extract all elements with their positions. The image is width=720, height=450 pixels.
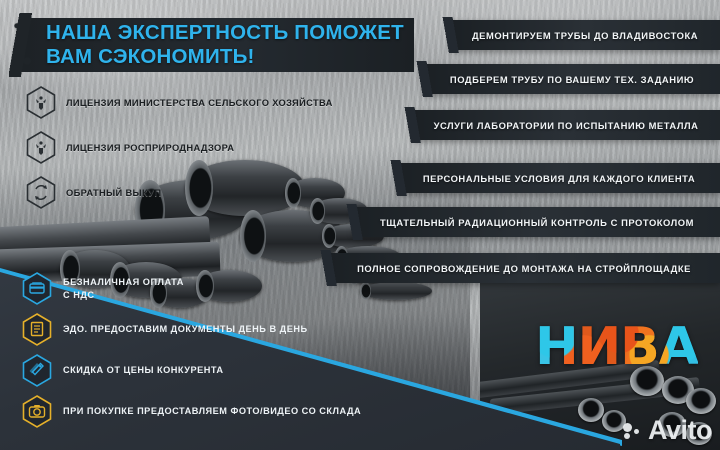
- eagle-emblem-icon: [26, 86, 56, 119]
- license-item: ОБРАТНЫЙ ВЫКУП: [26, 176, 333, 209]
- avito-dots-icon: [623, 420, 645, 442]
- feature-item: БЕЗНАЛИЧНАЯ ОПЛАТА С НДС: [22, 272, 422, 305]
- service-badge-label: ТЩАТЕЛЬНЫЙ РАДИАЦИОННЫЙ КОНТРОЛЬ С ПРОТО…: [380, 217, 694, 228]
- niva-logo: НИВА: [513, 318, 698, 376]
- feature-item: ЭДО. ПРЕДОСТАВИМ ДОКУМЕНТЫ ДЕНЬ В ДЕНЬ: [22, 313, 422, 346]
- service-badge: ТЩАТЕЛЬНЫЙ РАДИАЦИОННЫЙ КОНТРОЛЬ С ПРОТО…: [354, 207, 720, 237]
- feature-label: ПРИ ПОКУПКЕ ПРЕДОСТАВЛЯЕМ ФОТО/ВИДЕО СО …: [63, 405, 361, 417]
- card-payment-icon: [22, 272, 52, 305]
- headline-banner: НАША ЭКСПЕРТНОСТЬ ПОМОЖЕТ ВАМ СЭКОНОМИТЬ…: [22, 18, 414, 72]
- feature-list: БЕЗНАЛИЧНАЯ ОПЛАТА С НДС ЭДО. ПРЕДОСТАВИ…: [22, 272, 422, 428]
- pipe-end: [578, 398, 604, 422]
- service-badge: УСЛУГИ ЛАБОРАТОРИИ ПО ИСПЫТАНИЮ МЕТАЛЛА: [412, 110, 720, 140]
- service-badge: ДЕМОНТИРУЕМ ТРУБЫ ДО ВЛАДИВОСТОКА: [450, 20, 720, 50]
- license-item: ЛИЦЕНЗИЯ РОСПРИРОДНАДЗОРА: [26, 131, 333, 164]
- price-tag-icon: [22, 354, 52, 387]
- avito-watermark-text: Avito: [648, 417, 712, 444]
- niva-logo-text: НИВА: [535, 321, 698, 373]
- buyback-arrows-icon: [26, 176, 56, 209]
- pipe-end: [686, 388, 716, 414]
- feature-label: БЕЗНАЛИЧНАЯ ОПЛАТА С НДС: [63, 276, 184, 301]
- license-list: ЛИЦЕНЗИЯ МИНИСТЕРСТВА СЕЛЬСКОГО ХОЗЯЙСТВ…: [26, 86, 333, 221]
- service-badge-label: ПЕРСОНАЛЬНЫЕ УСЛОВИЯ ДЛЯ КАЖДОГО КЛИЕНТА: [423, 173, 695, 184]
- eagle-emblem-icon: [26, 131, 56, 164]
- avito-watermark: Avito: [623, 417, 712, 444]
- feature-item: ПРИ ПОКУПКЕ ПРЕДОСТАВЛЯЕМ ФОТО/ВИДЕО СО …: [22, 395, 422, 428]
- service-badge-label: ПОДБЕРЕМ ТРУБУ ПО ВАШЕМУ ТЕХ. ЗАДАНИЮ: [450, 74, 694, 85]
- service-badge: ПЕРСОНАЛЬНЫЕ УСЛОВИЯ ДЛЯ КАЖДОГО КЛИЕНТА: [398, 163, 720, 193]
- license-label: ЛИЦЕНЗИЯ МИНИСТЕРСТВА СЕЛЬСКОГО ХОЗЯЙСТВ…: [66, 98, 333, 108]
- license-label: ЛИЦЕНЗИЯ РОСПРИРОДНАДЗОРА: [66, 143, 234, 153]
- headline-text: НАША ЭКСПЕРТНОСТЬ ПОМОЖЕТ ВАМ СЭКОНОМИТЬ…: [22, 21, 404, 69]
- advertisement-banner: НАША ЭКСПЕРТНОСТЬ ПОМОЖЕТ ВАМ СЭКОНОМИТЬ…: [0, 0, 720, 450]
- feature-label: СКИДКА ОТ ЦЕНЫ КОНКУРЕНТА: [63, 364, 224, 376]
- service-badge: ПОДБЕРЕМ ТРУБУ ПО ВАШЕМУ ТЕХ. ЗАДАНИЮ: [424, 64, 720, 94]
- service-badge-label: ДЕМОНТИРУЕМ ТРУБЫ ДО ВЛАДИВОСТОКА: [472, 30, 698, 41]
- service-badge-label: УСЛУГИ ЛАБОРАТОРИИ ПО ИСПЫТАНИЮ МЕТАЛЛА: [434, 120, 699, 131]
- license-label: ОБРАТНЫЙ ВЫКУП: [66, 188, 161, 198]
- license-item: ЛИЦЕНЗИЯ МИНИСТЕРСТВА СЕЛЬСКОГО ХОЗЯЙСТВ…: [26, 86, 333, 119]
- feature-item: СКИДКА ОТ ЦЕНЫ КОНКУРЕНТА: [22, 354, 422, 387]
- document-icon: [22, 313, 52, 346]
- camera-photo-icon: [22, 395, 52, 428]
- feature-label: ЭДО. ПРЕДОСТАВИМ ДОКУМЕНТЫ ДЕНЬ В ДЕНЬ: [63, 323, 308, 335]
